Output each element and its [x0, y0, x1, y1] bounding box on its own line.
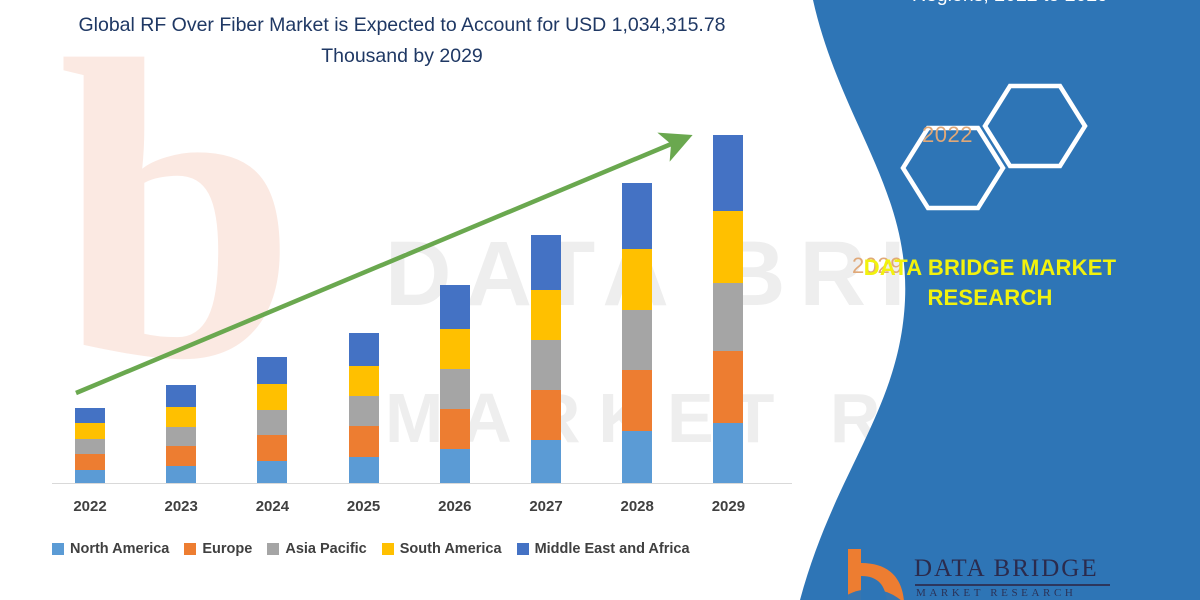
bar-segment[interactable]: [75, 439, 105, 454]
hexagon-2022-label: 2022: [922, 122, 973, 148]
corner-logo: DATA BRIDGE MARKET RESEARCH: [842, 547, 912, 600]
x-axis-label-2025: 2025: [334, 498, 394, 515]
logo-divider: [915, 584, 1110, 586]
legend-item[interactable]: Asia Pacific: [267, 541, 366, 557]
x-axis-label-2024: 2024: [242, 498, 302, 515]
chart-plot-area: 20222023202420252026202720282029: [0, 0, 820, 600]
bar-group-2024[interactable]: [257, 357, 287, 483]
bar-segment[interactable]: [531, 440, 561, 483]
bar-segment[interactable]: [349, 333, 379, 366]
hexagon-badges: [880, 80, 1130, 225]
bar-segment[interactable]: [713, 423, 743, 483]
bar-segment[interactable]: [440, 285, 470, 329]
legend-swatch-icon: [267, 543, 279, 555]
bar-segment[interactable]: [440, 449, 470, 483]
legend-label: Europe: [202, 541, 252, 557]
bar-segment[interactable]: [75, 423, 105, 439]
legend-label: Middle East and Africa: [535, 541, 690, 557]
bar-segment[interactable]: [166, 466, 196, 483]
bar-segment[interactable]: [75, 454, 105, 470]
bar-segment[interactable]: [75, 470, 105, 483]
bar-segment[interactable]: [531, 390, 561, 440]
bar-segment[interactable]: [713, 351, 743, 423]
bar-segment[interactable]: [440, 329, 470, 369]
bar-segment[interactable]: [349, 396, 379, 426]
bar-segment[interactable]: [440, 409, 470, 449]
legend-swatch-icon: [184, 543, 196, 555]
legend-swatch-icon: [382, 543, 394, 555]
bar-segment[interactable]: [622, 249, 652, 310]
x-axis-label-2029: 2029: [698, 498, 758, 515]
bar-segment[interactable]: [257, 357, 287, 384]
bar-group-2026[interactable]: [440, 285, 470, 483]
x-axis-label-2027: 2027: [516, 498, 576, 515]
chart-title: Global RF Over Fiber Market is Expected …: [52, 10, 752, 72]
bar-group-2028[interactable]: [622, 183, 652, 483]
chart-legend: North AmericaEuropeAsia PacificSouth Ame…: [52, 541, 690, 557]
legend-label: South America: [400, 541, 502, 557]
bar-segment[interactable]: [622, 310, 652, 370]
bar-segment[interactable]: [257, 384, 287, 410]
x-axis-labels: 20222023202420252026202720282029: [0, 498, 820, 522]
bar-segment[interactable]: [166, 427, 196, 446]
bar-segment[interactable]: [622, 183, 652, 249]
brand-name: DATA BRIDGE MARKET RESEARCH: [820, 253, 1160, 313]
legend-swatch-icon: [52, 543, 64, 555]
bar-segment[interactable]: [531, 290, 561, 340]
bar-group-2025[interactable]: [349, 333, 379, 483]
bar-segment[interactable]: [166, 407, 196, 427]
panel-title: Regions, 2022 to 2029: [840, 0, 1180, 11]
legend-label: North America: [70, 541, 169, 557]
infographic-root: b DATA BRIDGE MARKET RESEARCH Global RF …: [0, 0, 1200, 600]
bar-segment[interactable]: [257, 461, 287, 483]
bar-segment[interactable]: [349, 366, 379, 396]
bar-segment[interactable]: [622, 431, 652, 483]
bar-segment[interactable]: [166, 446, 196, 466]
bar-segment[interactable]: [531, 235, 561, 290]
legend-item[interactable]: Middle East and Africa: [517, 541, 690, 557]
legend-swatch-icon: [517, 543, 529, 555]
bar-segment[interactable]: [257, 410, 287, 435]
bar-segment[interactable]: [75, 408, 105, 423]
hexagon-2022-icon: [985, 86, 1085, 166]
x-axis-label-2023: 2023: [151, 498, 211, 515]
logo-bridge-icon: [842, 547, 912, 600]
bar-segment[interactable]: [713, 135, 743, 211]
bar-segment[interactable]: [713, 211, 743, 283]
logo-tagline: MARKET RESEARCH: [916, 587, 1076, 599]
bar-segment[interactable]: [349, 426, 379, 457]
bar-group-2027[interactable]: [531, 235, 561, 483]
brand-line-1: DATA BRIDGE MARKET: [820, 253, 1160, 283]
bar-segment[interactable]: [440, 369, 470, 409]
x-axis-label-2028: 2028: [607, 498, 667, 515]
legend-item[interactable]: North America: [52, 541, 169, 557]
right-brand-panel: Regions, 2022 to 2029 2022 2029 DATA BRI…: [780, 0, 1200, 600]
x-axis-label-2026: 2026: [425, 498, 485, 515]
bar-segment[interactable]: [257, 435, 287, 461]
legend-item[interactable]: South America: [382, 541, 502, 557]
legend-item[interactable]: Europe: [184, 541, 252, 557]
bar-segment[interactable]: [166, 385, 196, 407]
bar-segment[interactable]: [622, 370, 652, 431]
chart-baseline: [52, 483, 792, 484]
logo-title: DATA BRIDGE: [914, 555, 1099, 583]
bar-segment[interactable]: [713, 283, 743, 351]
bar-group-2029[interactable]: [713, 135, 743, 483]
bar-group-2022[interactable]: [75, 408, 105, 483]
bar-group-2023[interactable]: [166, 385, 196, 483]
brand-line-2: RESEARCH: [820, 283, 1160, 313]
x-axis-label-2022: 2022: [60, 498, 120, 515]
bar-segment[interactable]: [531, 340, 561, 390]
bar-segment[interactable]: [349, 457, 379, 483]
legend-label: Asia Pacific: [285, 541, 366, 557]
